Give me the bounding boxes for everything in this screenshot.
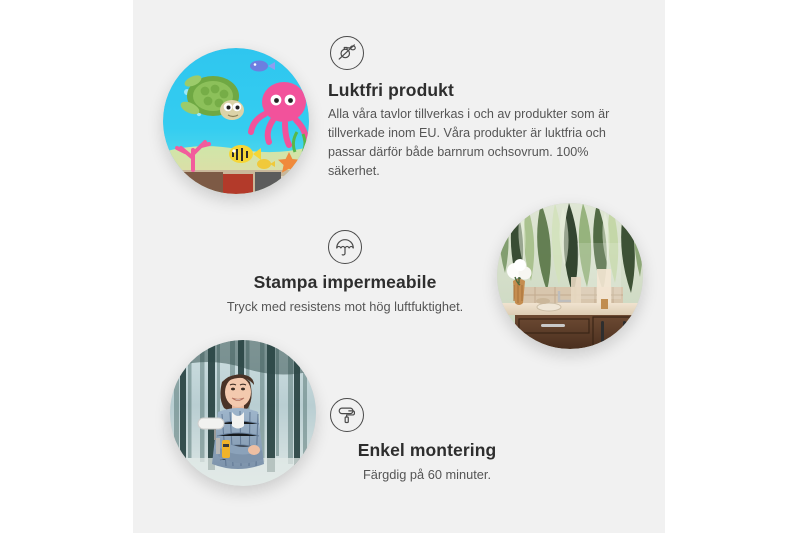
feature-block-2: Stampa impermeabile Tryck med resistens … xyxy=(205,230,485,316)
forest-painter-image xyxy=(170,340,316,486)
feature-block-3: Enkel montering Färgdig på 60 minuter. xyxy=(312,398,542,484)
underwater-cartoon-photo xyxy=(163,48,309,194)
bathroom-wallpaper-photo xyxy=(497,203,643,349)
feature-title: Enkel montering xyxy=(312,440,542,462)
no-fragrance-icon xyxy=(330,36,364,70)
paint-roller-icon xyxy=(330,398,364,432)
feature-description: Tryck med resistens mot hög luftfuktighe… xyxy=(205,297,485,316)
forest-painter-photo xyxy=(170,340,316,486)
bathroom-wallpaper-image xyxy=(497,203,643,349)
feature-block-1: Luktfri produkt Alla våra tavlor tillver… xyxy=(328,36,628,181)
feature-description: Färgdig på 60 minuter. xyxy=(312,465,542,484)
feature-description: Alla våra tavlor tillverkas i och av pro… xyxy=(328,105,628,182)
underwater-cartoon-image xyxy=(163,48,309,194)
feature-title: Stampa impermeabile xyxy=(205,272,485,294)
infographic-stage: Luktfri produkt Alla våra tavlor tillver… xyxy=(0,0,800,533)
umbrella-icon xyxy=(328,230,362,264)
feature-title: Luktfri produkt xyxy=(328,80,628,102)
